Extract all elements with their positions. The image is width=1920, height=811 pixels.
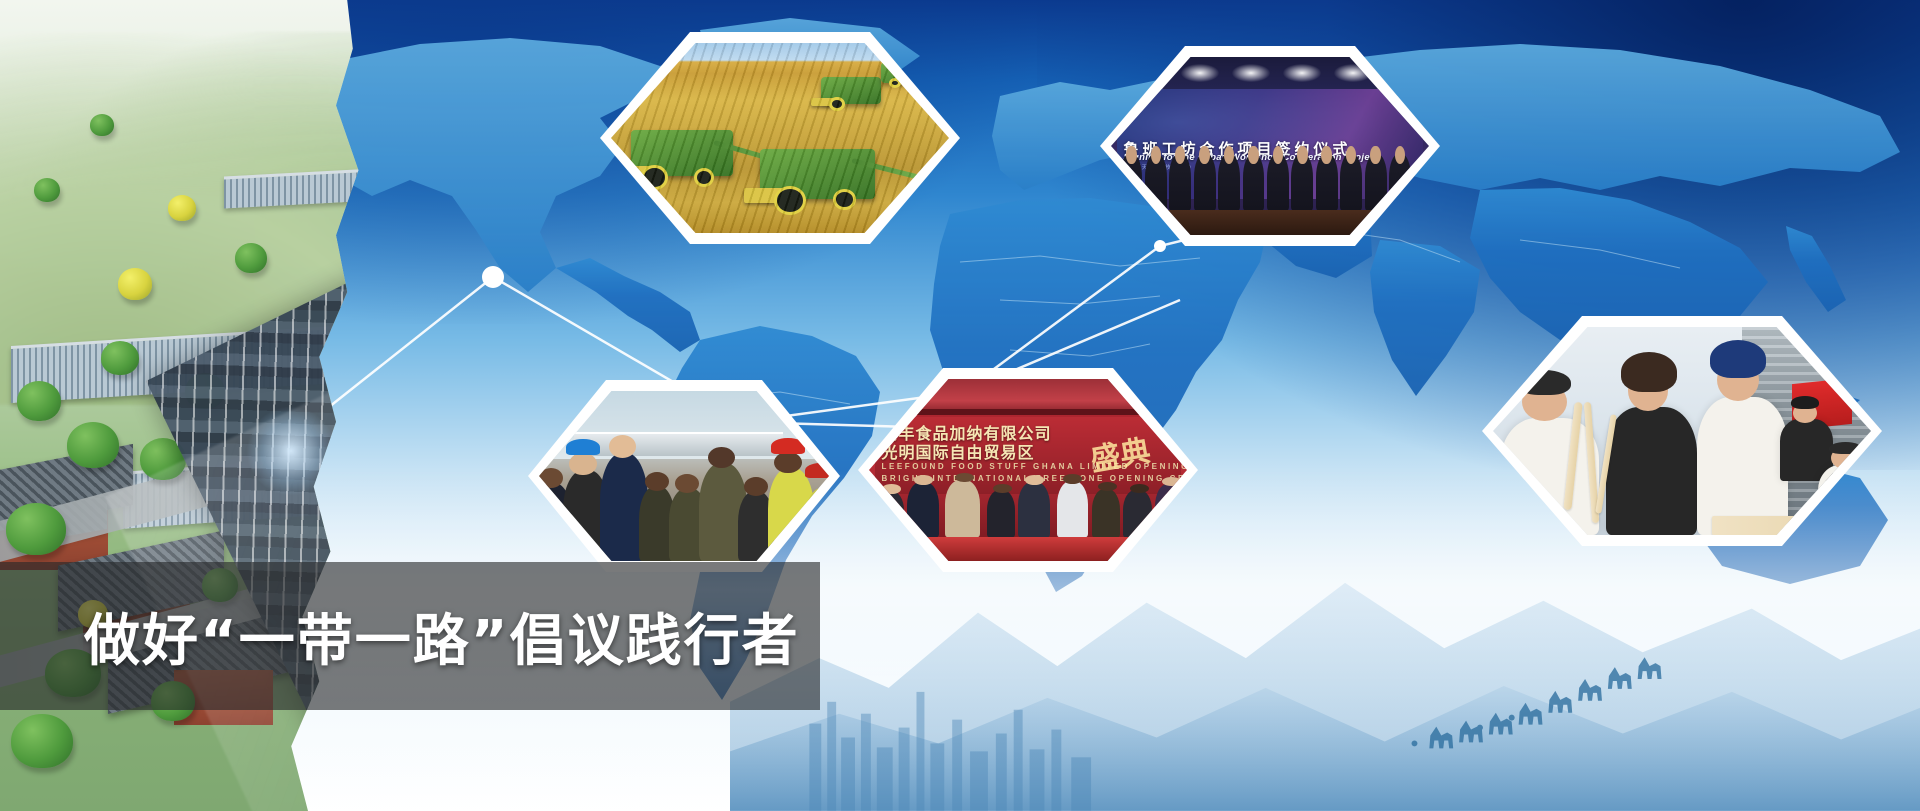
combine-harvester xyxy=(631,130,732,176)
combine-harvester xyxy=(821,77,882,104)
opening-ceremony-photo: 利丰食品加纳有限公司 光明国际自由贸易区 LEEFOUND FOOD STUFF… xyxy=(869,379,1187,561)
blue-chef-cap xyxy=(1710,340,1766,378)
culinary-student xyxy=(1697,344,1788,535)
ceremony-officials xyxy=(869,472,1187,538)
delegation-group xyxy=(539,435,829,561)
hard-hat-red xyxy=(771,438,804,454)
signing-ceremony-photo: 鲁班工坊合作项目签约仪式 Signing for the Luban Works… xyxy=(1111,57,1429,235)
network-lines xyxy=(300,214,1290,430)
banner-hero: 鲁班工坊合作项目签约仪式 Signing for the Luban Works… xyxy=(0,0,1920,811)
page-title: 做好“一带一路”倡议践行者 xyxy=(84,596,800,677)
visitor-guest xyxy=(1606,352,1697,535)
site-visit-photo xyxy=(539,391,829,561)
hard-hat-blue xyxy=(566,439,599,455)
headline-banner: 做好“一带一路”倡议践行者 xyxy=(0,562,820,710)
combine-harvester xyxy=(760,149,875,198)
signing-delegates xyxy=(1117,150,1422,211)
hard-hat-red xyxy=(805,463,829,478)
harvest-field-photo xyxy=(611,43,949,233)
culinary-exchange-photo xyxy=(1493,327,1871,535)
